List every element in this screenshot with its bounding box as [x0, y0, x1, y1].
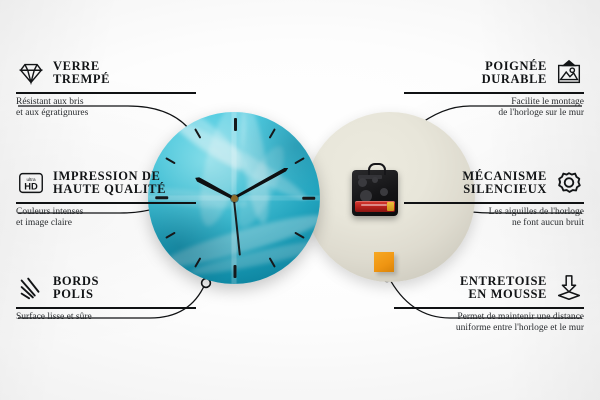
battery-label-stripe	[361, 204, 387, 206]
clock-tick	[302, 197, 315, 200]
feature-verre-trempe: VERRE TREMPÉ Résistant aux bris et aux é…	[16, 58, 196, 119]
infographic-canvas: VERRE TREMPÉ Résistant aux bris et aux é…	[0, 0, 600, 400]
aa-battery	[355, 201, 395, 212]
clock-center-pivot	[231, 195, 238, 202]
clock-tick	[234, 118, 237, 131]
foam-spacer	[374, 252, 394, 272]
divider	[394, 307, 584, 309]
svg-text:HD: HD	[24, 182, 38, 192]
divider	[404, 92, 584, 94]
divider	[404, 202, 584, 204]
divider	[16, 307, 196, 309]
diamond-icon	[16, 58, 46, 88]
gear-icon	[554, 168, 584, 198]
polished-edges-icon	[16, 273, 46, 303]
mechanism-dot	[380, 188, 388, 196]
quartz-mechanism	[352, 170, 398, 216]
feature-title: POIGNÉE DURABLE	[482, 60, 547, 87]
divider	[16, 92, 196, 94]
press-down-icon	[554, 273, 584, 303]
feature-subtitle: Couleurs intenses et image claire	[16, 207, 196, 229]
feature-subtitle: Les aiguilles de l'horloge ne font aucun…	[404, 207, 584, 229]
battery-cap	[387, 202, 394, 211]
feature-title: VERRE TREMPÉ	[53, 60, 110, 87]
hanging-hook-icon	[368, 163, 386, 175]
feature-title: MÉCANISME SILENCIEUX	[462, 170, 547, 197]
feature-title: IMPRESSION DE HAUTE QUALITÉ	[53, 170, 166, 197]
feature-bords-polis: BORDS POLIS Surface lisse et sûre	[16, 273, 196, 323]
feature-impression-haute-qualite: ultra HD IMPRESSION DE HAUTE QUALITÉ Cou…	[16, 168, 196, 229]
divider	[16, 202, 196, 204]
ultra-hd-icon: ultra HD	[16, 168, 46, 198]
feature-entretoise-en-mousse: ENTRETOISE EN MOUSSE Permet de maintenir…	[394, 273, 584, 334]
feature-poignee-durable: POIGNÉE DURABLE Facilite le montage de l…	[404, 58, 584, 119]
clock-tick	[234, 265, 237, 278]
feature-subtitle: Résistant aux bris et aux égratignures	[16, 97, 196, 119]
feature-subtitle: Permet de maintenir une distance uniform…	[394, 312, 584, 334]
feature-title: ENTRETOISE EN MOUSSE	[460, 275, 547, 302]
feature-mecanisme-silencieux: MÉCANISME SILENCIEUX Les aiguilles de l'…	[404, 168, 584, 229]
feature-subtitle: Surface lisse et sûre	[16, 312, 196, 323]
feature-subtitle: Facilite le montage de l'horloge sur le …	[404, 97, 584, 119]
mechanism-dot	[358, 178, 367, 187]
mechanism-dot	[372, 177, 378, 183]
picture-hanger-icon	[554, 58, 584, 88]
feature-title: BORDS POLIS	[53, 275, 99, 302]
